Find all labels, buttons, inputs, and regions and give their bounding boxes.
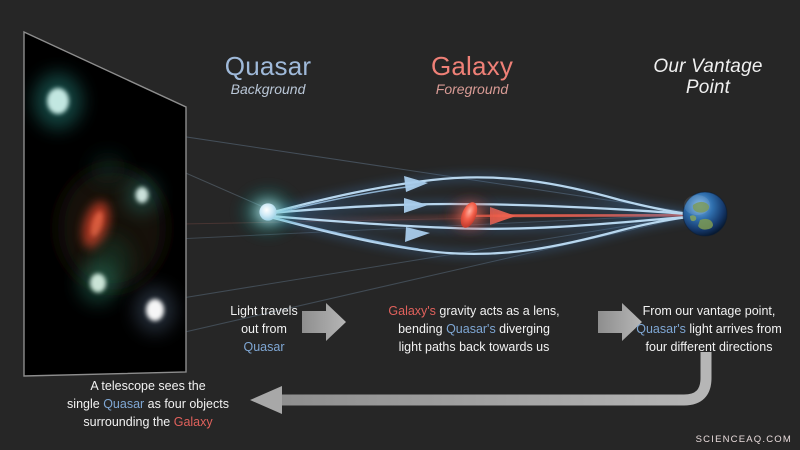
step4-line2-pre: single bbox=[67, 397, 103, 411]
step-caption-2: Galaxy's gravity acts as a lens, bending… bbox=[358, 303, 590, 356]
earth-observer bbox=[683, 192, 727, 236]
heading-quasar-subtitle: Background bbox=[178, 82, 358, 98]
step3-line2-rest: light arrives from bbox=[686, 322, 782, 336]
step3-line1: From our vantage point, bbox=[620, 303, 798, 321]
step1-line1: Light travels bbox=[206, 303, 322, 321]
step-arrow-3-to-4 bbox=[250, 352, 706, 414]
step4-quasar-word: Quasar bbox=[103, 397, 144, 411]
step3-line3: four different directions bbox=[620, 339, 798, 357]
telescope-view-panel bbox=[24, 32, 186, 376]
heading-vantage-point: Our Vantage Point bbox=[622, 56, 794, 99]
heading-galaxy-subtitle: Foreground bbox=[382, 82, 562, 98]
step-caption-3: From our vantage point, Quasar's light a… bbox=[620, 303, 798, 356]
step2-line2-pre: bending bbox=[398, 322, 446, 336]
step-caption-1: Light travels out from Quasar bbox=[206, 303, 322, 356]
step-caption-4: A telescope sees the single Quasar as fo… bbox=[36, 377, 260, 431]
step2-quasar-word: Quasar's bbox=[446, 322, 496, 336]
step4-line3: surrounding the Galaxy bbox=[36, 413, 260, 431]
step2-line1-rest: gravity acts as a lens, bbox=[436, 304, 560, 318]
step4-line3-pre: surrounding the bbox=[83, 415, 173, 429]
step4-line2: single Quasar as four objects bbox=[36, 395, 260, 413]
step2-line2-post: diverging bbox=[496, 322, 550, 336]
step4-galaxy-word: Galaxy bbox=[174, 415, 213, 429]
diagram-canvas: Quasar Background Galaxy Foreground Our … bbox=[0, 0, 800, 450]
step4-line2-post: as four objects bbox=[144, 397, 229, 411]
step2-line3: light paths back towards us bbox=[358, 339, 590, 357]
step1-line3: Quasar bbox=[206, 339, 322, 357]
light-path-arrowheads bbox=[404, 176, 430, 242]
quasar-point-source bbox=[234, 182, 302, 242]
quasar-image-top-left bbox=[34, 73, 82, 129]
lensing-galaxy bbox=[444, 193, 496, 237]
step2-line1: Galaxy's gravity acts as a lens, bbox=[358, 303, 590, 321]
quasar-image-bottom-right bbox=[135, 287, 175, 333]
step4-line1: A telescope sees the bbox=[36, 377, 260, 395]
step3-quasar-word: Quasar's bbox=[636, 322, 686, 336]
heading-galaxy: Galaxy Foreground bbox=[382, 52, 562, 98]
heading-vantage-line-1: Our Vantage bbox=[622, 56, 794, 77]
step2-line2: bending Quasar's diverging bbox=[358, 321, 590, 339]
credit-watermark: SCIENCEAQ.COM bbox=[696, 434, 792, 445]
quasar-image-right bbox=[126, 177, 158, 213]
heading-quasar-title: Quasar bbox=[178, 52, 358, 81]
heading-quasar: Quasar Background bbox=[178, 52, 358, 98]
step2-galaxy-word: Galaxy's bbox=[388, 304, 436, 318]
step1-line2: out from bbox=[206, 321, 322, 339]
heading-galaxy-title: Galaxy bbox=[382, 52, 562, 81]
heading-vantage-line-2: Point bbox=[622, 77, 794, 98]
step3-line2: Quasar's light arrives from bbox=[620, 321, 798, 339]
quasar-image-bottom-left bbox=[79, 262, 117, 304]
